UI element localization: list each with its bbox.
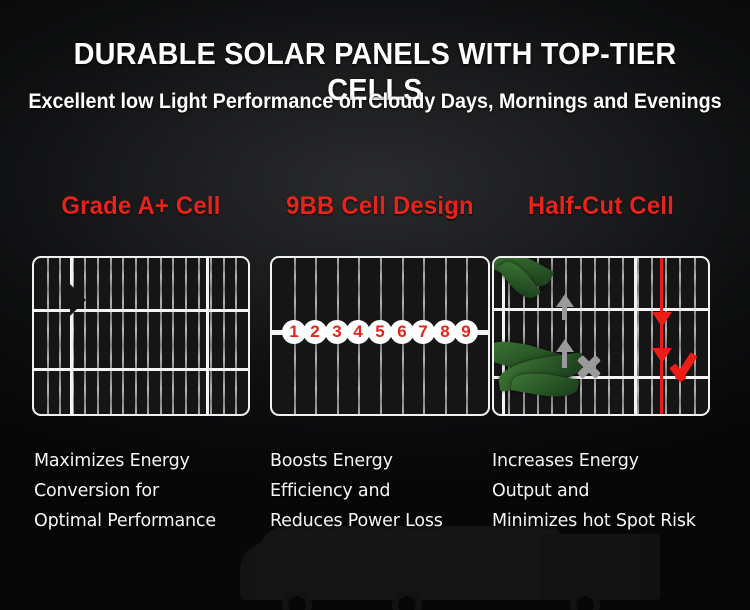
cell-horizontal-cut-1 bbox=[34, 309, 248, 312]
busbar-line bbox=[694, 258, 696, 414]
current-flow-arrow-down bbox=[652, 312, 672, 327]
busbar-number-badge: 5 bbox=[368, 320, 392, 344]
busbar-line bbox=[160, 258, 162, 414]
current-flow-line bbox=[660, 258, 663, 414]
rv-trailer bbox=[540, 534, 660, 600]
feature-caption-grade-a-plus: Maximizes Energy Conversion for Optimal … bbox=[34, 446, 264, 536]
feature-caption-9bb: Boosts Energy Efficiency and Reduces Pow… bbox=[270, 446, 490, 536]
busbar-line bbox=[637, 258, 639, 414]
busbar-line bbox=[665, 258, 667, 414]
busbar-line bbox=[59, 258, 61, 414]
current-flow-arrow-down bbox=[652, 348, 672, 363]
busbar-line bbox=[594, 258, 596, 414]
busbar-line bbox=[135, 258, 137, 414]
busbar-line bbox=[580, 258, 582, 414]
promo-banner: DURABLE SOLAR PANELS WITH TOP-TIER CELLS… bbox=[0, 0, 750, 610]
cell-graphic-half-cut bbox=[492, 256, 710, 416]
caption-line: Boosts Energy bbox=[270, 446, 490, 476]
busbar-line bbox=[223, 258, 225, 414]
busbar-line bbox=[172, 258, 174, 414]
feature-title-half-cut: Half-Cut Cell bbox=[497, 192, 704, 221]
busbar-line bbox=[210, 258, 212, 414]
busbar-line bbox=[235, 258, 237, 414]
cell-vertical-cut-1 bbox=[70, 258, 73, 414]
blocked-flow-stem bbox=[562, 350, 567, 368]
busbar-line bbox=[622, 258, 624, 414]
busbar-line bbox=[47, 258, 49, 414]
busbar-line bbox=[198, 258, 200, 414]
busbar-line bbox=[110, 258, 112, 414]
busbar-line bbox=[97, 258, 99, 414]
busbar-number-badge: 2 bbox=[303, 320, 327, 344]
caption-line: Optimal Performance bbox=[34, 506, 264, 536]
busbar-line bbox=[651, 258, 653, 414]
cell-graphic-9bb: 123456789 bbox=[270, 256, 490, 416]
feature-title-9bb: 9BB Cell Design bbox=[276, 192, 485, 221]
blocked-flow-arrow-up bbox=[556, 339, 574, 352]
busbar-number-row: 123456789 bbox=[272, 320, 488, 346]
busbar-number-badge: 9 bbox=[454, 320, 478, 344]
x-mark-icon bbox=[576, 354, 602, 380]
cell-graphic-grade-a-plus bbox=[32, 256, 250, 416]
cell-vertical-cut-2 bbox=[206, 258, 209, 414]
caption-line: Increases Energy bbox=[492, 446, 742, 476]
rv-wheel-rear bbox=[392, 590, 422, 610]
rv-cab bbox=[240, 542, 310, 600]
cell-busbar-grid bbox=[34, 258, 248, 414]
rv-body bbox=[260, 526, 560, 600]
cell-horizontal-cut-1 bbox=[494, 308, 708, 311]
busbar-number-badge: 7 bbox=[411, 320, 435, 344]
busbar-line bbox=[608, 258, 610, 414]
cell-vertical-cut-center bbox=[634, 258, 637, 414]
caption-line: Reduces Power Loss bbox=[270, 506, 490, 536]
caption-line: Maximizes Energy bbox=[34, 446, 264, 476]
caption-line: Efficiency and bbox=[270, 476, 490, 506]
feature-caption-half-cut: Increases Energy Output and Minimizes ho… bbox=[492, 446, 742, 536]
check-mark-icon bbox=[672, 350, 708, 382]
busbar-line bbox=[679, 258, 681, 414]
cell-horizontal-cut-2 bbox=[34, 368, 248, 371]
rv-wheel-trailer bbox=[570, 590, 600, 610]
busbar-line bbox=[122, 258, 124, 414]
blocked-flow-arrow-up bbox=[556, 294, 574, 307]
cell-chamfer bbox=[70, 284, 86, 316]
busbar-line bbox=[147, 258, 149, 414]
caption-line: Conversion for bbox=[34, 476, 264, 506]
feature-title-grade-a-plus: Grade A+ Cell bbox=[37, 192, 244, 221]
caption-line: Minimizes hot Spot Risk bbox=[492, 506, 742, 536]
page-subtitle: Excellent low Light Performance on Cloud… bbox=[23, 90, 728, 114]
busbar-number-badge: 4 bbox=[346, 320, 370, 344]
busbar-line bbox=[84, 258, 86, 414]
busbar-line bbox=[185, 258, 187, 414]
caption-line: Output and bbox=[492, 476, 742, 506]
rv-wheel-front bbox=[282, 590, 312, 610]
